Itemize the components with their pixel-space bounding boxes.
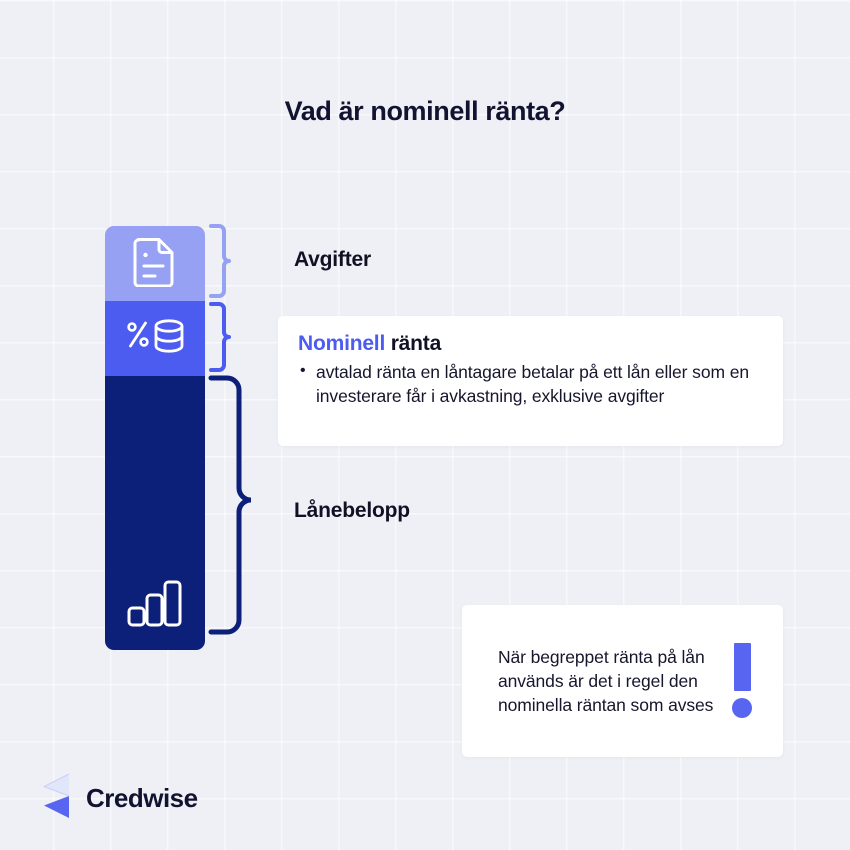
brace-nominell — [211, 304, 229, 370]
exclamation-mark-icon — [719, 643, 765, 720]
logo-text: Credwise — [86, 783, 198, 814]
bar-chart-icon — [127, 579, 183, 632]
percent-database-icon — [124, 316, 186, 361]
list-item: avtalad ränta en låntagare betalar på et… — [298, 361, 763, 409]
page-title: Vad är nominell ränta? — [0, 96, 850, 127]
callout-text: När begreppet ränta på lån används är de… — [498, 645, 717, 717]
nominell-bullet-list: avtalad ränta en låntagare betalar på et… — [298, 361, 763, 409]
exclamation-bar — [734, 643, 751, 691]
credwise-chevron-logo-icon — [38, 772, 72, 825]
bar-segment-nominell — [105, 301, 205, 376]
bar-segment-avgifter — [105, 226, 205, 301]
nominell-card-title-accent: Nominell — [298, 332, 385, 355]
label-avgifter: Avgifter — [294, 248, 371, 272]
label-lanebelopp: Lånebelopp — [294, 499, 410, 523]
brace-connectors — [205, 220, 251, 660]
bar-segment-lanebelopp — [105, 376, 205, 650]
brace-avgifter — [211, 226, 229, 296]
brand-logo[interactable]: Credwise — [38, 772, 198, 825]
brace-lanebelopp — [211, 378, 251, 632]
nominell-card-title: Nominell ränta — [298, 332, 763, 356]
nominell-card-title-rest: ränta — [385, 332, 441, 355]
stacked-bar-chart — [105, 226, 205, 650]
document-icon — [133, 235, 177, 292]
exclamation-dot — [732, 698, 752, 718]
nominell-ranta-card: Nominell ränta avtalad ränta en låntagar… — [278, 316, 783, 446]
callout-box: När begreppet ränta på lån används är de… — [462, 605, 783, 757]
